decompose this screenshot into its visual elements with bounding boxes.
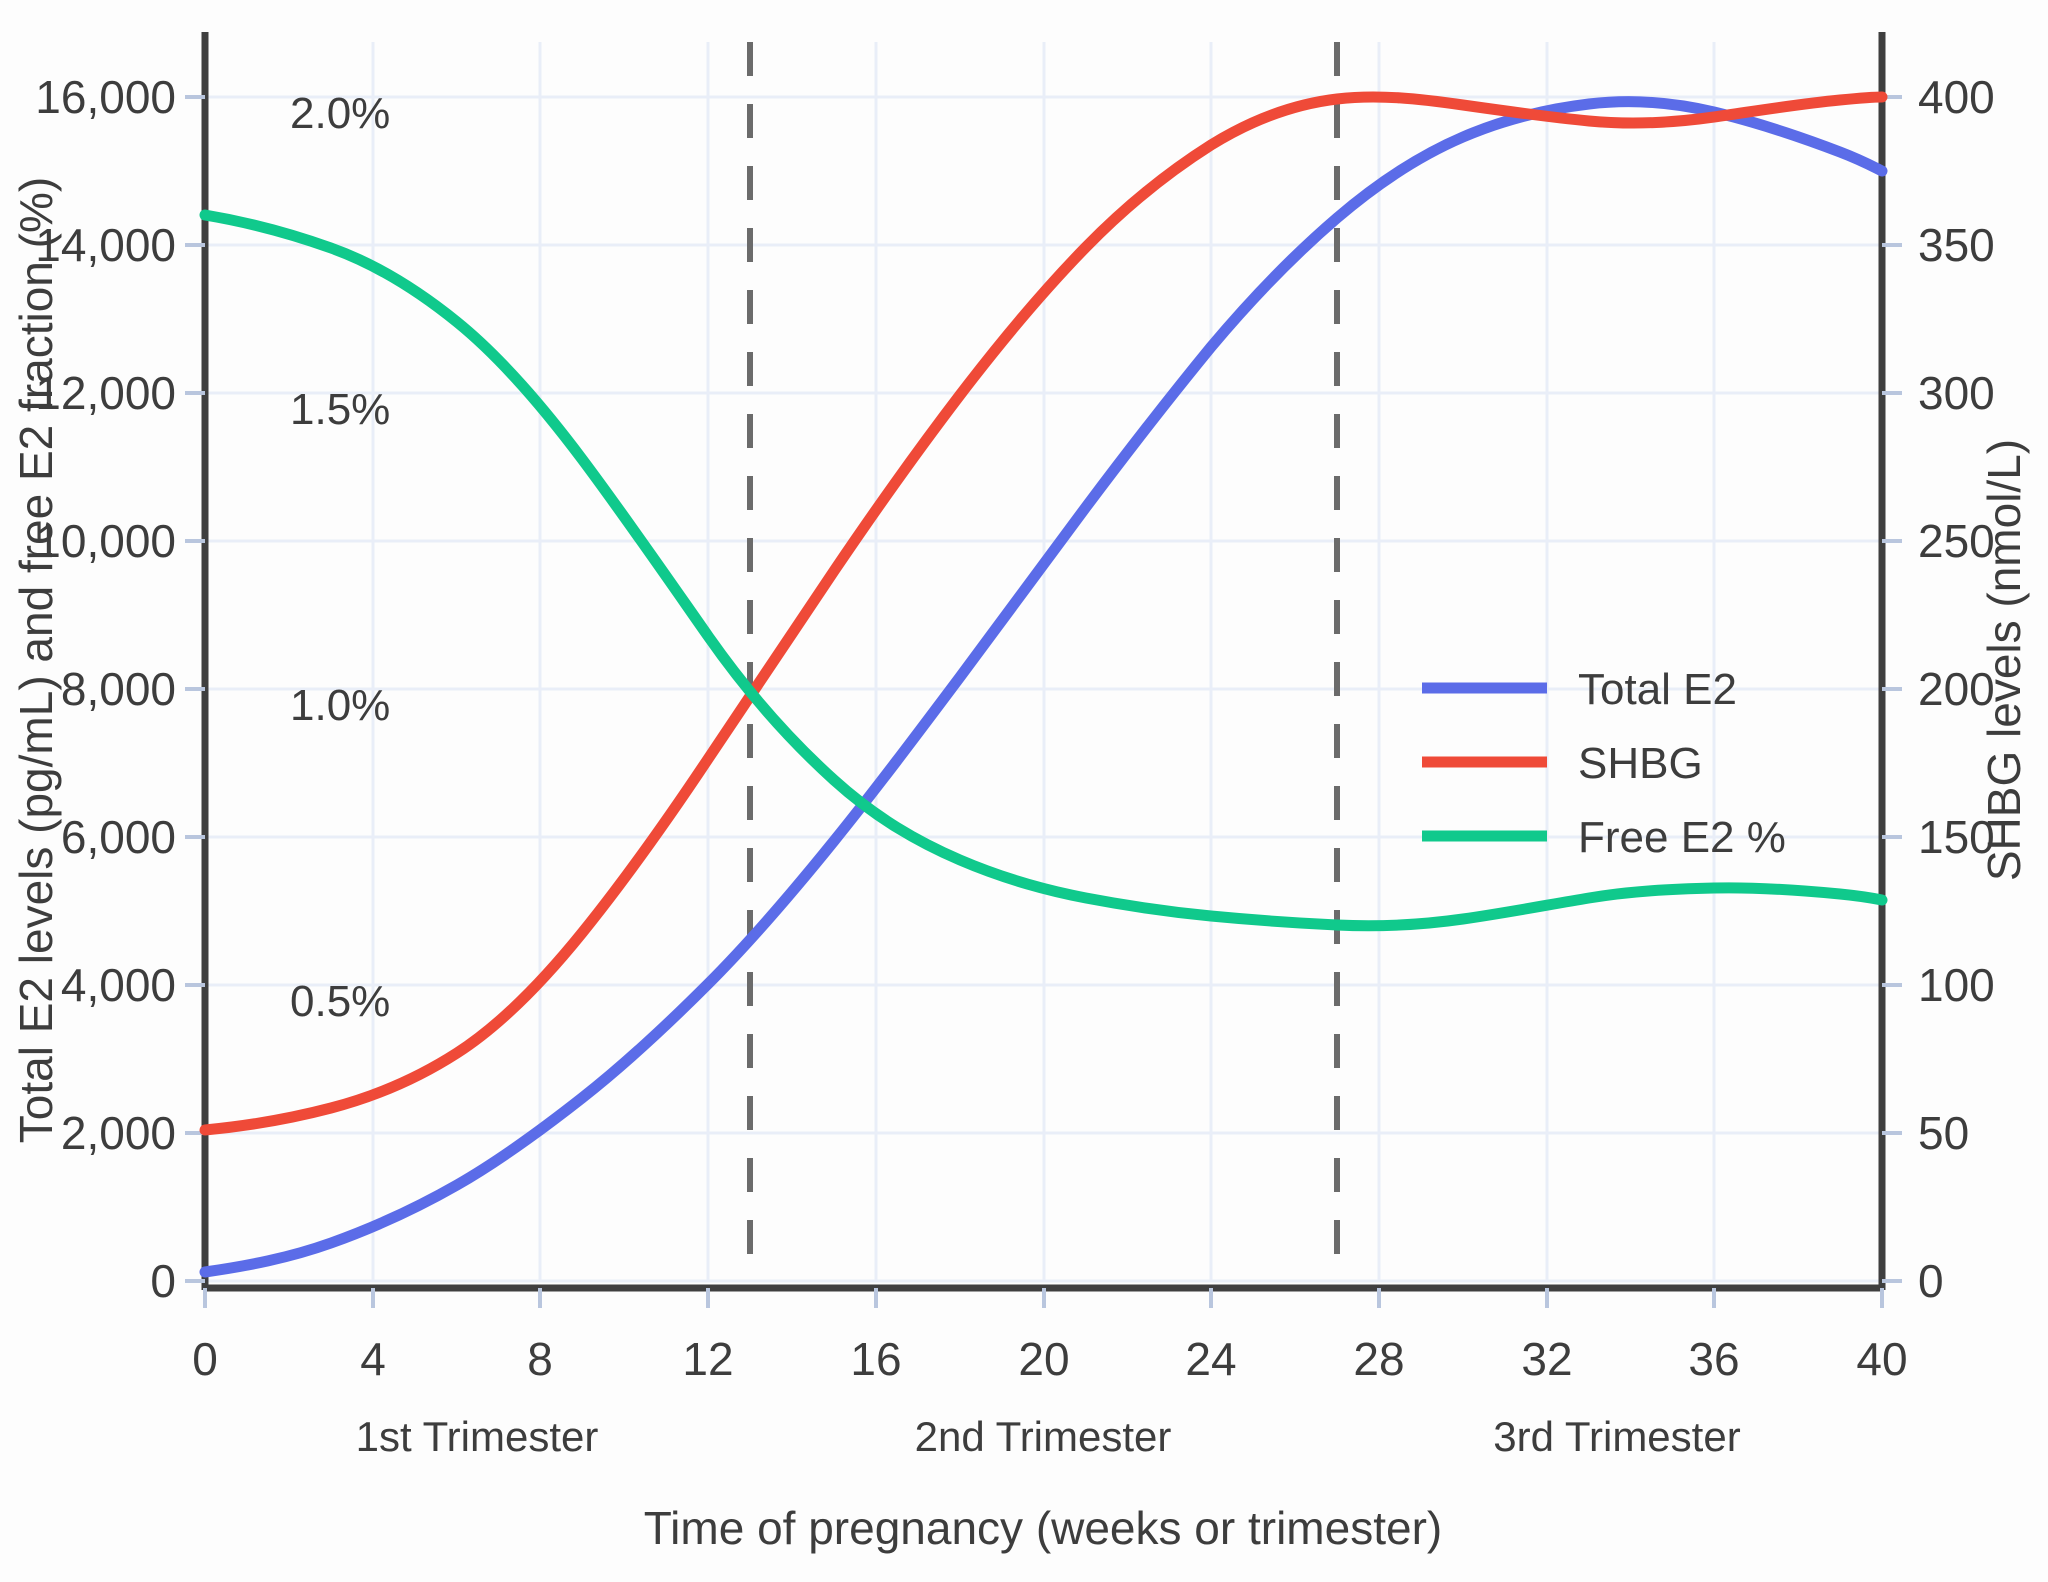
x-tick-32: 32 — [1521, 1333, 1572, 1385]
legend-item-total-e2[interactable]: Total E2 — [1422, 665, 1737, 714]
x-tick-16: 16 — [850, 1333, 901, 1385]
y-left-tick-0: 0 — [150, 1255, 176, 1307]
x-tick-4: 4 — [360, 1333, 386, 1385]
y-left-tick-1: 2,000 — [61, 1107, 176, 1159]
trimester-label-3: 3rd Trimester — [1493, 1413, 1740, 1460]
chart-root: 0 2,000 4,000 6,000 8,000 10,000 12,000 … — [0, 0, 2048, 1582]
x-axis-tick-labels: 0 4 8 12 16 20 24 28 32 36 40 — [192, 1333, 1907, 1385]
y-left-tick-8: 16,000 — [35, 71, 176, 123]
x-tick-0: 0 — [192, 1333, 218, 1385]
x-tick-8: 8 — [527, 1333, 553, 1385]
y-right-tick-6: 300 — [1918, 367, 1995, 419]
legend-label-free-e2-pct: Free E2 % — [1578, 813, 1786, 862]
trimester-label-1: 1st Trimester — [356, 1413, 599, 1460]
y-left-axis-title: Total E2 levels (pg/mL) and free E2 frac… — [10, 177, 62, 1143]
y-right-tick-8: 400 — [1918, 71, 1995, 123]
y-right-axis-title: SHBG levels (nmol/L) — [1978, 439, 2030, 881]
vertical-gridlines — [205, 42, 1882, 1281]
y-right-tick-1: 50 — [1918, 1107, 1969, 1159]
trimester-labels: 1st Trimester 2nd Trimester 3rd Trimeste… — [356, 1413, 1741, 1460]
y-left-tick-3: 6,000 — [61, 811, 176, 863]
x-tick-12: 12 — [682, 1333, 733, 1385]
x-tick-36: 36 — [1688, 1333, 1739, 1385]
x-axis-title: Time of pregnancy (weeks or trimester) — [644, 1502, 1442, 1554]
line-chart: 0 2,000 4,000 6,000 8,000 10,000 12,000 … — [0, 0, 2048, 1582]
y-left-tick-4: 8,000 — [61, 663, 176, 715]
y-left-tick-2: 4,000 — [61, 959, 176, 1011]
x-tick-24: 24 — [1185, 1333, 1236, 1385]
chart-legend: Total E2 SHBG Free E2 % — [1422, 665, 1786, 862]
legend-label-shbg: SHBG — [1578, 739, 1703, 788]
x-tick-20: 20 — [1018, 1333, 1069, 1385]
x-tick-28: 28 — [1353, 1333, 1404, 1385]
legend-item-free-e2-pct[interactable]: Free E2 % — [1422, 813, 1786, 862]
pct-label-2-0: 2.0% — [290, 89, 390, 138]
y-right-tick-2: 100 — [1918, 959, 1995, 1011]
pct-label-1-0: 1.0% — [290, 681, 390, 730]
y-right-tick-7: 350 — [1918, 219, 1995, 271]
legend-item-shbg[interactable]: SHBG — [1422, 739, 1703, 788]
y-right-tick-0: 0 — [1918, 1255, 1944, 1307]
inner-percent-labels: 0.5% 1.0% 1.5% 2.0% — [290, 89, 390, 1026]
pct-label-1-5: 1.5% — [290, 385, 390, 434]
x-tick-40: 40 — [1856, 1333, 1907, 1385]
legend-label-total-e2: Total E2 — [1578, 665, 1737, 714]
pct-label-0-5: 0.5% — [290, 977, 390, 1026]
trimester-label-2: 2nd Trimester — [915, 1413, 1172, 1460]
